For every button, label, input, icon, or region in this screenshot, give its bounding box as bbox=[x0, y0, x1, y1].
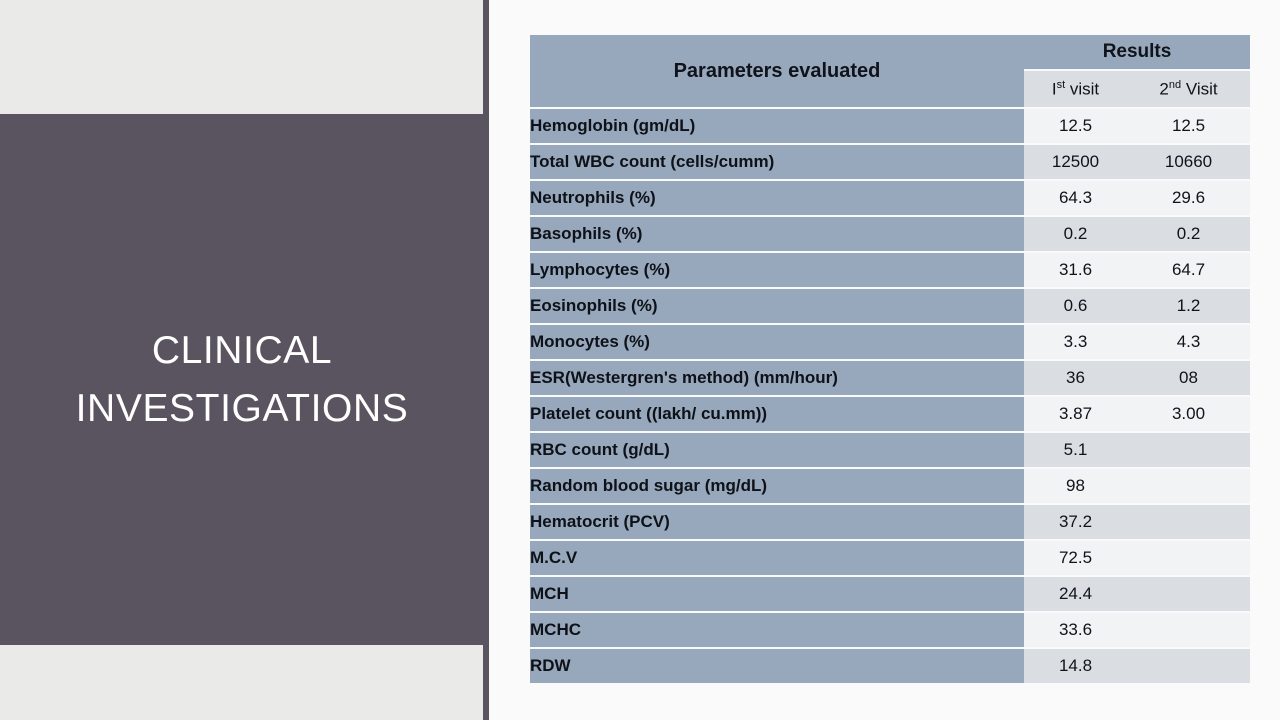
cell-parameter: MCHC bbox=[530, 613, 1024, 647]
cell-visit-1-value: 64.3 bbox=[1024, 181, 1127, 215]
table-row: MCHC33.6 bbox=[530, 613, 1250, 647]
cell-parameter: Monocytes (%) bbox=[530, 325, 1024, 359]
header-visit-1-superscript: st bbox=[1057, 79, 1066, 91]
header-visit-1-suffix: visit bbox=[1065, 79, 1099, 98]
table-row: Basophils (%)0.20.2 bbox=[530, 217, 1250, 251]
table-row: Hemoglobin (gm/dL)12.512.5 bbox=[530, 109, 1250, 143]
cell-parameter: Neutrophils (%) bbox=[530, 181, 1024, 215]
cell-visit-2-value: 64.7 bbox=[1127, 253, 1250, 287]
cell-visit-1-value: 98 bbox=[1024, 469, 1127, 503]
cell-visit-1-value: 37.2 bbox=[1024, 505, 1127, 539]
table-row: MCH24.4 bbox=[530, 577, 1250, 611]
cell-visit-1-value: 12.5 bbox=[1024, 109, 1127, 143]
header-visit-1: Ist visit bbox=[1024, 71, 1127, 107]
bottom-accent-band bbox=[0, 645, 484, 720]
table-row: M.C.V72.5 bbox=[530, 541, 1250, 575]
cell-parameter: ESR(Westergren's method) (mm/hour) bbox=[530, 361, 1024, 395]
cell-parameter: RDW bbox=[530, 649, 1024, 683]
cell-visit-1-value: 36 bbox=[1024, 361, 1127, 395]
header-results: Results bbox=[1024, 35, 1250, 69]
top-accent-band bbox=[0, 0, 484, 114]
header-visit-2-superscript: nd bbox=[1169, 79, 1181, 91]
slide-title: CLINICAL INVESTIGATIONS bbox=[32, 322, 452, 437]
table-row: Random blood sugar (mg/dL)98 bbox=[530, 469, 1250, 503]
table-row: Platelet count ((lakh/ cu.mm))3.873.00 bbox=[530, 397, 1250, 431]
cell-parameter: M.C.V bbox=[530, 541, 1024, 575]
cell-visit-1-value: 33.6 bbox=[1024, 613, 1127, 647]
cell-visit-2-value bbox=[1127, 541, 1250, 575]
cell-parameter: Total WBC count (cells/cumm) bbox=[530, 145, 1024, 179]
header-visit-2-suffix: Visit bbox=[1181, 79, 1218, 98]
header-visit-2: 2nd Visit bbox=[1127, 71, 1250, 107]
cell-parameter: Random blood sugar (mg/dL) bbox=[530, 469, 1024, 503]
cell-visit-2-value bbox=[1127, 433, 1250, 467]
table-header: Parameters evaluated Results Ist visit 2… bbox=[530, 35, 1250, 107]
cell-parameter: Eosinophils (%) bbox=[530, 289, 1024, 323]
cell-parameter: MCH bbox=[530, 577, 1024, 611]
cell-visit-2-value bbox=[1127, 577, 1250, 611]
cell-visit-1-value: 0.6 bbox=[1024, 289, 1127, 323]
cell-parameter: RBC count (g/dL) bbox=[530, 433, 1024, 467]
table-row: Monocytes (%)3.34.3 bbox=[530, 325, 1250, 359]
table-row: Hematocrit (PCV)37.2 bbox=[530, 505, 1250, 539]
header-parameters-evaluated: Parameters evaluated bbox=[530, 35, 1024, 107]
table-row: RBC count (g/dL)5.1 bbox=[530, 433, 1250, 467]
table-row: ESR(Westergren's method) (mm/hour)3608 bbox=[530, 361, 1250, 395]
table-row: Lymphocytes (%)31.664.7 bbox=[530, 253, 1250, 287]
clinical-investigations-table: Parameters evaluated Results Ist visit 2… bbox=[530, 33, 1250, 685]
cell-visit-2-value: 4.3 bbox=[1127, 325, 1250, 359]
table-row: Eosinophils (%)0.61.2 bbox=[530, 289, 1250, 323]
slide-title-panel: CLINICAL INVESTIGATIONS bbox=[0, 114, 484, 645]
cell-visit-2-value: 29.6 bbox=[1127, 181, 1250, 215]
cell-visit-2-value bbox=[1127, 613, 1250, 647]
content-area: Parameters evaluated Results Ist visit 2… bbox=[489, 0, 1280, 720]
cell-visit-2-value: 10660 bbox=[1127, 145, 1250, 179]
cell-visit-2-value bbox=[1127, 505, 1250, 539]
cell-visit-2-value: 1.2 bbox=[1127, 289, 1250, 323]
title-panel-zone: CLINICAL INVESTIGATIONS bbox=[0, 0, 489, 720]
table-row: RDW14.8 bbox=[530, 649, 1250, 683]
cell-visit-1-value: 0.2 bbox=[1024, 217, 1127, 251]
cell-visit-2-value: 3.00 bbox=[1127, 397, 1250, 431]
cell-visit-1-value: 72.5 bbox=[1024, 541, 1127, 575]
cell-visit-1-value: 12500 bbox=[1024, 145, 1127, 179]
cell-visit-1-value: 31.6 bbox=[1024, 253, 1127, 287]
table-row: Total WBC count (cells/cumm)1250010660 bbox=[530, 145, 1250, 179]
header-visit-2-prefix: 2 bbox=[1159, 79, 1168, 98]
header-row-primary: Parameters evaluated Results bbox=[530, 35, 1250, 69]
table-row: Neutrophils (%)64.329.6 bbox=[530, 181, 1250, 215]
cell-visit-2-value bbox=[1127, 469, 1250, 503]
cell-visit-2-value: 08 bbox=[1127, 361, 1250, 395]
cell-visit-1-value: 3.3 bbox=[1024, 325, 1127, 359]
cell-parameter: Basophils (%) bbox=[530, 217, 1024, 251]
cell-visit-2-value: 0.2 bbox=[1127, 217, 1250, 251]
cell-visit-1-value: 14.8 bbox=[1024, 649, 1127, 683]
table-body: Hemoglobin (gm/dL)12.512.5Total WBC coun… bbox=[530, 109, 1250, 683]
cell-visit-1-value: 5.1 bbox=[1024, 433, 1127, 467]
cell-visit-2-value bbox=[1127, 649, 1250, 683]
cell-visit-1-value: 3.87 bbox=[1024, 397, 1127, 431]
cell-parameter: Hematocrit (PCV) bbox=[530, 505, 1024, 539]
cell-visit-2-value: 12.5 bbox=[1127, 109, 1250, 143]
cell-parameter: Platelet count ((lakh/ cu.mm)) bbox=[530, 397, 1024, 431]
cell-parameter: Lymphocytes (%) bbox=[530, 253, 1024, 287]
cell-visit-1-value: 24.4 bbox=[1024, 577, 1127, 611]
cell-parameter: Hemoglobin (gm/dL) bbox=[530, 109, 1024, 143]
